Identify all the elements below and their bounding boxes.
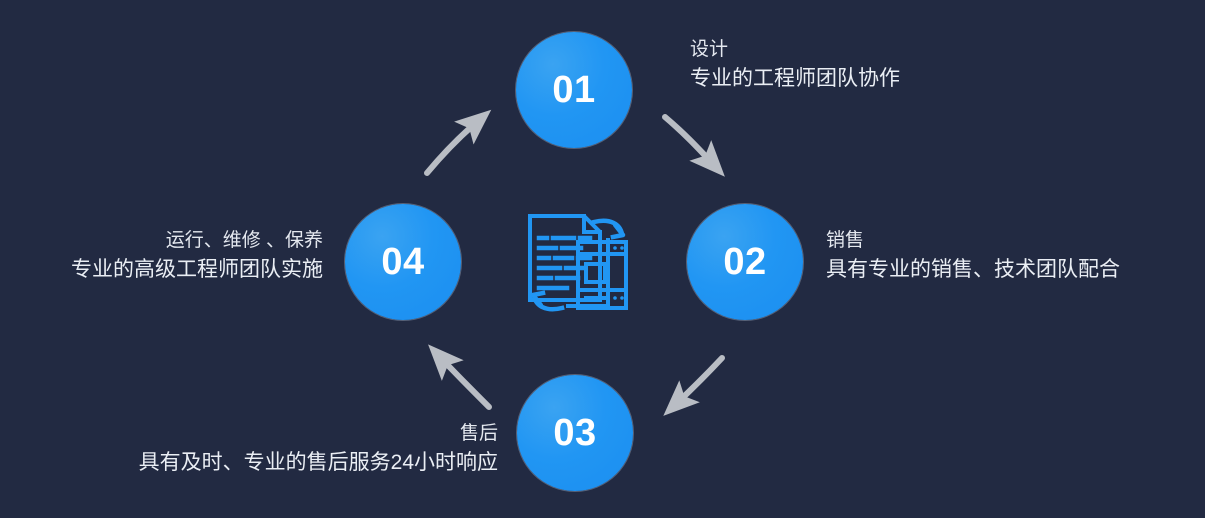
arrow-01-to-02 [665, 117, 713, 164]
node-desc-02: 具有专业的销售、技术团队配合 [826, 255, 1120, 285]
node-circle-03[interactable]: 03 [517, 375, 633, 491]
node-number-03: 03 [553, 414, 596, 452]
node-title-01: 设计 [690, 37, 900, 64]
node-number-02: 02 [723, 243, 766, 281]
node-title-03: 售后 [139, 421, 498, 448]
node-label-01: 设计 专业的工程师团队协作 [690, 37, 900, 94]
node-circle-02[interactable]: 02 [687, 204, 803, 320]
arrow-02-to-03 [676, 358, 722, 404]
arrow-04-to-01 [427, 121, 478, 173]
node-label-04: 运行、维修 、保养 专业的高级工程师团队实施 [71, 228, 323, 285]
node-desc-03: 具有及时、专业的售后服务24小时响应 [139, 448, 498, 478]
node-desc-04: 专业的高级工程师团队实施 [71, 255, 323, 285]
node-title-02: 销售 [826, 228, 1120, 255]
document-to-browser-sync-icon [522, 208, 634, 320]
node-title-04: 运行、维修 、保养 [71, 228, 323, 255]
node-number-01: 01 [552, 71, 595, 109]
process-cycle-diagram: 01 02 03 04 设计 专业的工程师团队协作 销售 具有专业的销售、技术团… [0, 0, 1205, 518]
arrow-03-to-04 [440, 357, 489, 407]
node-label-02: 销售 具有专业的销售、技术团队配合 [826, 228, 1120, 285]
node-label-03: 售后 具有及时、专业的售后服务24小时响应 [139, 421, 498, 478]
node-circle-01[interactable]: 01 [516, 32, 632, 148]
node-circle-04[interactable]: 04 [345, 204, 461, 320]
node-desc-01: 专业的工程师团队协作 [690, 64, 900, 94]
node-number-04: 04 [381, 243, 424, 281]
